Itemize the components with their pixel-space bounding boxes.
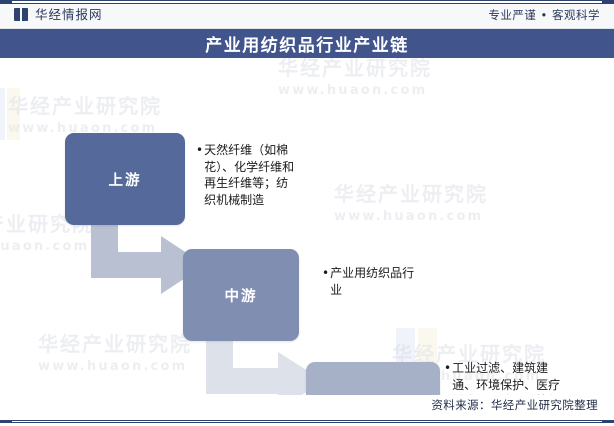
watermark: 华经产业研究院 www.huaon.com [8,90,162,136]
logo-watermark [0,88,22,140]
watermark-cn: 华经产业研究院 [8,90,162,119]
watermark: 华经产业研究院 www.huaon.com [38,328,192,374]
bullet-midstream-text: 产业用纺织品行业 [330,265,422,298]
bullet-downstream-text: 工业过滤、建筑建通、环境保护、医疗健康、国防军工等领域 [452,360,562,395]
watermark: 华经产业研究院 www.huaon.com [334,178,488,224]
infographic-page: 华经情报网 专业严谨 • 客观科学 产业用纺织品行业产业链 华经产业研究院 ww… [0,0,614,426]
page-header: 华经情报网 专业严谨 • 客观科学 [0,4,614,29]
node-downstream[interactable]: 下游 [306,362,440,395]
open-book-icon [14,8,29,21]
header-tagline: 专业严谨 • 客观科学 [488,8,600,22]
node-upstream-label: 上游 [109,169,142,190]
bullet-upstream: • 天然纤维（如棉花）、化学纤维和再生纤维等；纺织机械制造 [196,142,300,208]
bullet-marker: • [196,142,203,208]
bullet-upstream-text: 天然纤维（如棉花）、化学纤维和再生纤维等；纺织机械制造 [204,142,300,208]
brand-label: 华经情报网 [35,8,103,21]
watermark: 华经产业研究院 www.huaon.com [278,58,432,98]
bullet-marker: • [444,360,451,395]
watermark-cn: 华经产业研究院 [334,178,488,207]
node-upstream[interactable]: 上游 [65,133,185,225]
page-footer: 资料来源：华经产业研究院整理 [0,395,614,426]
page-title: 产业用纺织品行业产业链 [205,31,409,56]
watermark-url: www.huaon.com [0,239,94,254]
watermark-url: www.huaon.com [278,83,432,98]
top-rule-highlight [12,1,602,3]
bullet-marker: • [322,265,329,298]
watermark-url: www.huaon.com [38,359,192,374]
watermark-url: www.huaon.com [334,209,488,224]
title-band: 产业用纺织品行业产业链 [0,29,614,58]
bottom-rule-highlight [12,421,602,422]
node-midstream-label: 中游 [225,285,258,306]
brand: 华经情报网 [14,8,103,21]
bullet-downstream: • 工业过滤、建筑建通、环境保护、医疗健康、国防军工等领域 [444,360,562,395]
watermark-cn: 华经产业研究院 [38,328,192,357]
source-note: 资料来源：华经产业研究院整理 [431,397,598,413]
node-midstream[interactable]: 中游 [183,249,299,341]
diagram-canvas: 华经产业研究院 www.huaon.com 华经产业研究院 www.huaon.… [0,58,614,395]
watermark-cn: 华经产业研究院 [278,58,432,81]
bullet-midstream: • 产业用纺织品行业 [322,265,422,298]
